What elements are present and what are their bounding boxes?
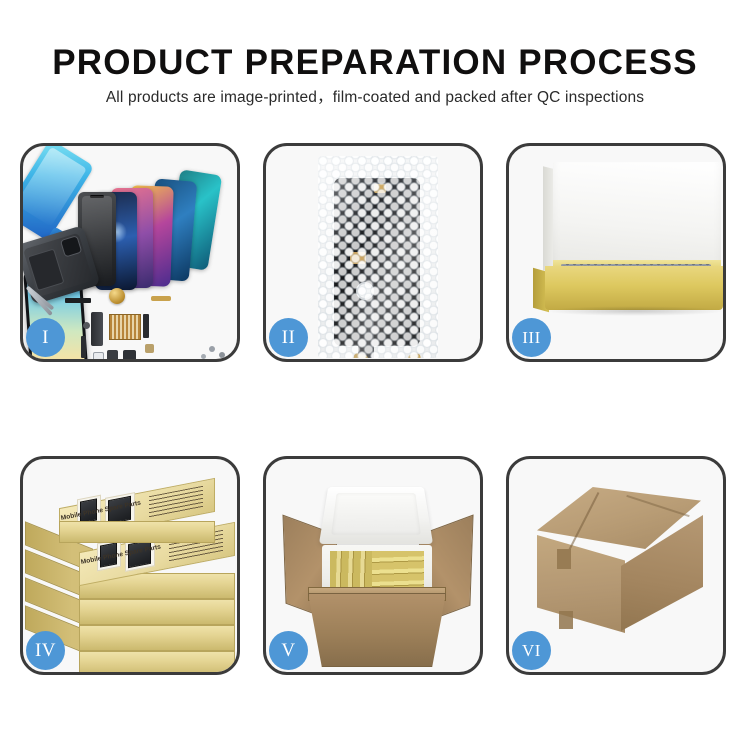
- screw-icon: [209, 346, 215, 352]
- styrofoam-lid-icon: [319, 487, 433, 544]
- box-edge-icon: [79, 651, 235, 675]
- step-badge-4: IV: [26, 631, 65, 670]
- small-part-icon: [107, 350, 118, 359]
- process-step-panel-3: III: [506, 143, 726, 362]
- product-preparation-infographic: PRODUCT PREPARATION PROCESS All products…: [0, 0, 750, 750]
- small-part-icon: [123, 350, 136, 359]
- small-part-icon: [93, 352, 104, 359]
- step-badge-6: VI: [512, 631, 551, 670]
- part-strip-icon: [143, 314, 149, 338]
- box-edge-icon: [79, 625, 235, 651]
- page-title: PRODUCT PREPARATION PROCESS: [0, 43, 750, 83]
- screw-icon: [219, 352, 225, 358]
- step-badge-5: V: [269, 631, 308, 670]
- page-subtitle: All products are image-printed，film-coat…: [0, 88, 750, 108]
- chip-grid-icon: [109, 314, 141, 340]
- carton-tape-icon: [557, 549, 571, 569]
- step-badge-1: I: [26, 318, 65, 357]
- box-edge-icon: [59, 521, 215, 543]
- process-step-panel-5: V: [263, 456, 483, 675]
- step-badge-3: III: [512, 318, 551, 357]
- flex-cable-icon: [91, 312, 103, 346]
- header: PRODUCT PREPARATION PROCESS All products…: [0, 0, 750, 130]
- box-shadow-icon: [545, 306, 723, 316]
- styrofoam-lid-inner-icon: [331, 493, 421, 535]
- process-step-panel-6: VI: [506, 456, 726, 675]
- gold-flex-strip-icon: [151, 296, 171, 301]
- carton-body-icon: [308, 593, 446, 667]
- part-strip-icon: [81, 336, 86, 358]
- screw-icon: [201, 354, 206, 359]
- box-edge-icon: [79, 599, 235, 625]
- process-step-panel-1: I: [20, 143, 240, 362]
- carton-front-face-icon: [537, 535, 625, 633]
- small-part-icon: [145, 344, 154, 353]
- bubble-wrap-bag-icon: [318, 156, 438, 358]
- carton-tape-icon: [559, 611, 573, 629]
- kraft-box-tray-icon: [545, 266, 723, 310]
- part-strip-icon: [65, 298, 91, 303]
- glass-notch-icon: [90, 195, 104, 198]
- step-badge-2: II: [269, 318, 308, 357]
- process-step-panel-4: Mobile Phone Spare Parts Mobile Phone Sp…: [20, 456, 240, 675]
- process-step-panel-2: II: [263, 143, 483, 362]
- screw-icon: [83, 322, 90, 329]
- plastic-sheen-icon: [318, 156, 438, 358]
- speaker-coil-icon: [109, 288, 125, 304]
